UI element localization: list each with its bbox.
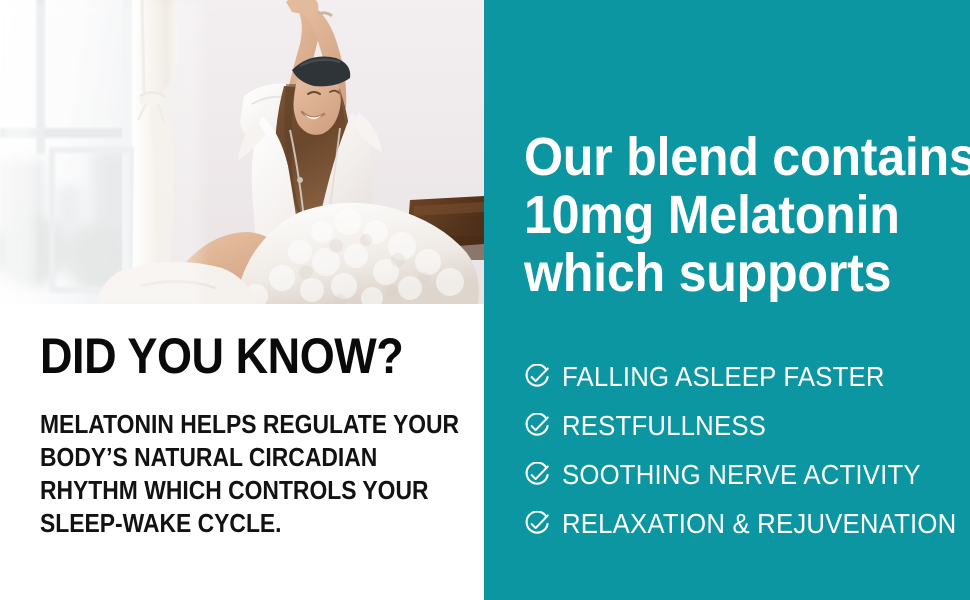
blend-headline: Our blend contains 10mg Melatonin which … <box>524 128 970 302</box>
benefit-label: RESTFULLNESS <box>562 411 766 441</box>
benefit-label: SOOTHING NERVE ACTIVITY <box>562 460 921 490</box>
check-circle-icon <box>524 462 550 488</box>
melatonin-promo-banner: DID YOU KNOW? MELATONIN HELPS REGULATE Y… <box>0 0 970 600</box>
benefit-item: SOOTHING NERVE ACTIVITY <box>524 450 970 499</box>
benefit-item: RESTFULLNESS <box>524 401 970 450</box>
did-you-know-body: MELATONIN HELPS REGULATE YOUR BODY’S NAT… <box>40 408 410 540</box>
benefit-label: RELAXATION & REJUVENATION <box>562 509 956 539</box>
benefit-item: RELAXATION & REJUVENATION <box>524 499 970 548</box>
did-you-know-heading: DID YOU KNOW? <box>40 330 418 382</box>
benefit-label: FALLING ASLEEP FASTER <box>562 362 885 392</box>
hero-photo <box>0 0 484 304</box>
headline-line: 10mg Melatonin <box>524 186 970 244</box>
check-circle-icon <box>524 364 550 390</box>
body-line: SLEEP-WAKE CYCLE. <box>40 507 410 540</box>
benefits-list: FALLING ASLEEP FASTER RESTFULLNESS SOOTH… <box>524 352 970 548</box>
headline-line: Our blend contains <box>524 128 970 186</box>
check-circle-icon <box>524 511 550 537</box>
body-line: MELATONIN HELPS REGULATE YOUR <box>40 408 410 441</box>
teal-panel: Our blend contains 10mg Melatonin which … <box>484 0 970 600</box>
body-line: RHYTHM WHICH CONTROLS YOUR <box>40 474 410 507</box>
benefit-item: FALLING ASLEEP FASTER <box>524 352 970 401</box>
headline-line: which supports <box>524 244 970 302</box>
body-line: BODY’S NATURAL CIRCADIAN <box>40 441 410 474</box>
bedroom-photo-illustration <box>0 0 484 304</box>
check-circle-icon <box>524 413 550 439</box>
did-you-know-block: DID YOU KNOW? MELATONIN HELPS REGULATE Y… <box>40 330 460 540</box>
left-column: DID YOU KNOW? MELATONIN HELPS REGULATE Y… <box>0 0 484 600</box>
